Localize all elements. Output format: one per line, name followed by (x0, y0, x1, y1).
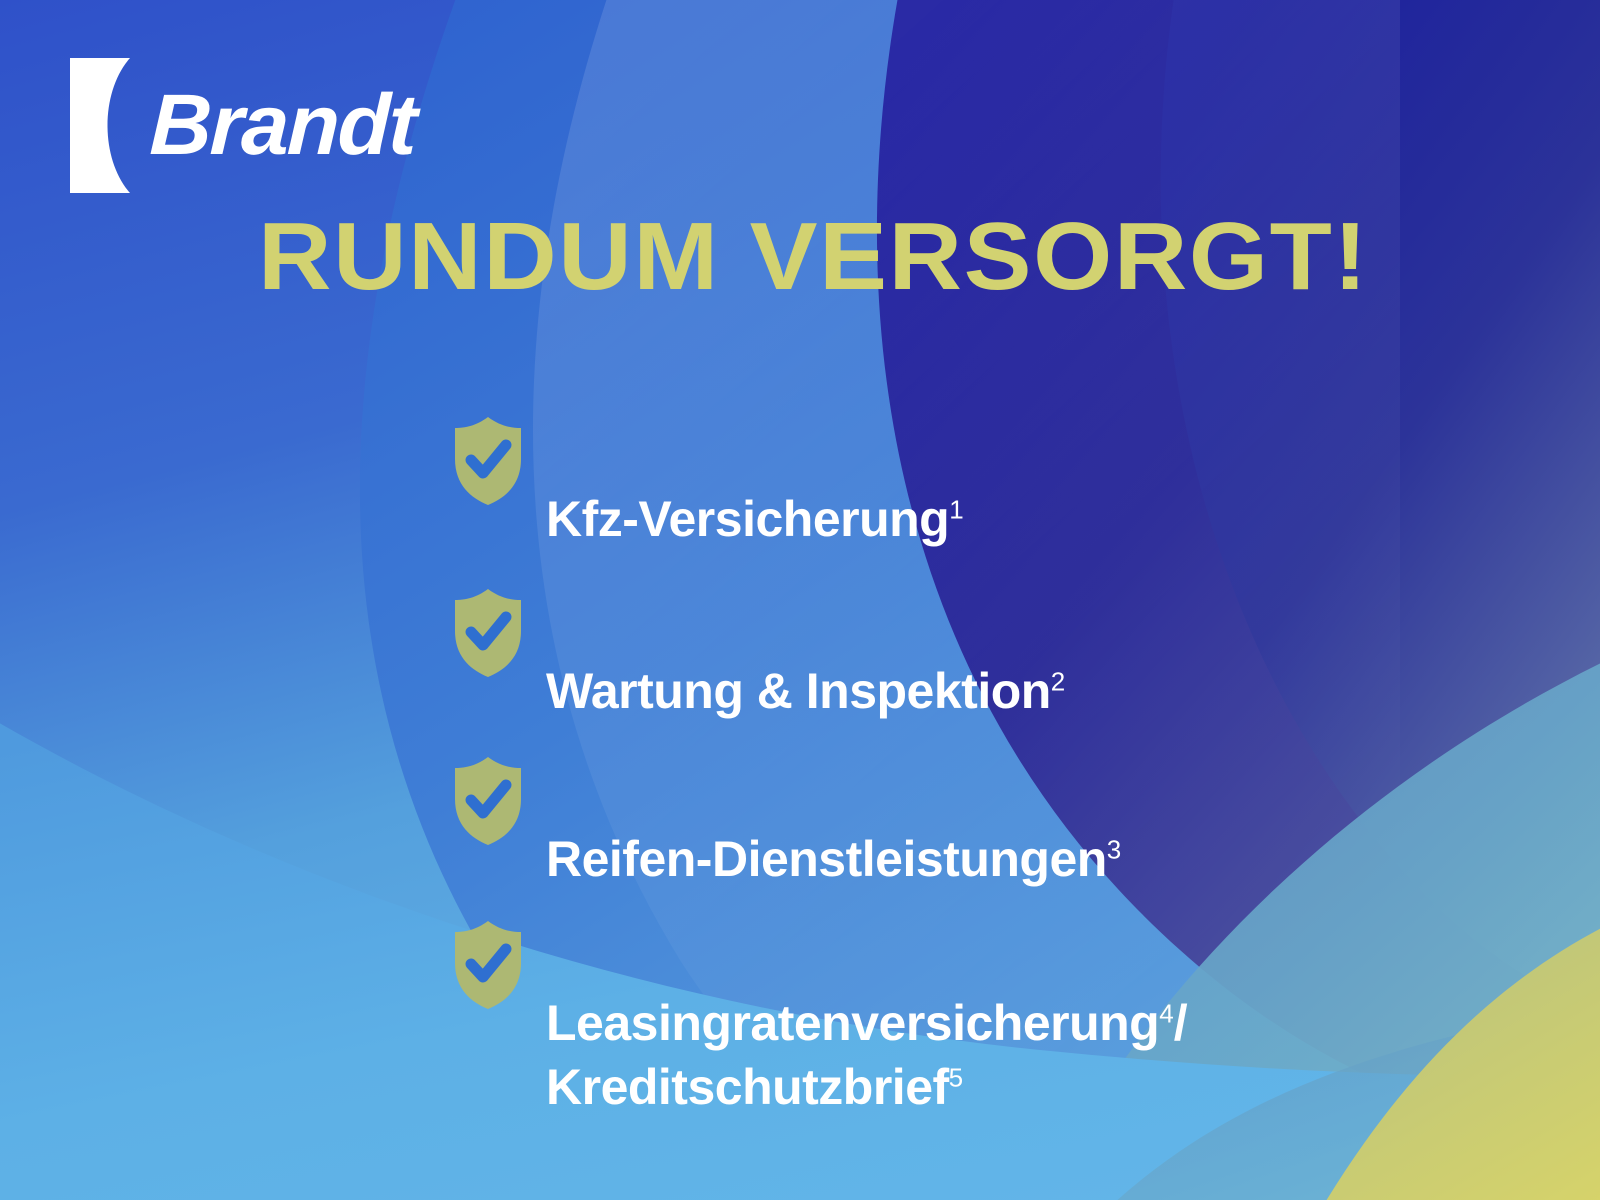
list-item-label: Wartung & Inspektion2 (546, 587, 1065, 723)
footnote-marker: 2 (1051, 666, 1065, 696)
benefit-label-text: Kfz-Versicherung (546, 491, 949, 547)
list-item-label: Leasingratenversicherung4/Kreditschutzbr… (546, 919, 1187, 1119)
poster-canvas: Brandt RUNDUM VERSORGT! Kfz-Versicherung… (0, 0, 1600, 1200)
list-item-label: Reifen-Dienstleistungen3 (546, 755, 1121, 891)
shield-check-icon (452, 587, 524, 679)
benefit-label-text: Reifen-Dienstleistungen (546, 831, 1107, 887)
list-item-label: Kfz-Versicherung1 (546, 415, 964, 551)
footnote-marker: 1 (949, 494, 963, 524)
list-item: Kfz-Versicherung1 (452, 415, 1582, 551)
bracket-crescent-logo-icon (70, 58, 146, 193)
list-item: Leasingratenversicherung4/Kreditschutzbr… (452, 919, 1582, 1119)
benefit-separator: / (1174, 995, 1187, 1051)
footnote-marker: 3 (1107, 834, 1121, 864)
brand-name: Brandt (148, 82, 416, 168)
footnote-marker-2: 5 (949, 1062, 963, 1092)
shield-check-icon (452, 755, 524, 847)
brand-logo: Brandt (70, 55, 415, 195)
benefits-list: Kfz-Versicherung1 Wartung & Inspektion2 … (452, 415, 1582, 1119)
page-title: RUNDUM VERSORGT! (258, 209, 1424, 305)
footnote-marker: 4 (1159, 998, 1173, 1028)
list-item: Reifen-Dienstleistungen3 (452, 755, 1582, 891)
shield-check-icon (452, 919, 524, 1011)
benefit-label-text-2: Kreditschutzbrief (546, 1059, 949, 1115)
benefit-label-text: Leasingratenversicherung (546, 995, 1159, 1051)
benefit-label-text: Wartung & Inspektion (546, 663, 1051, 719)
shield-check-icon (452, 415, 524, 507)
list-item: Wartung & Inspektion2 (452, 587, 1582, 723)
